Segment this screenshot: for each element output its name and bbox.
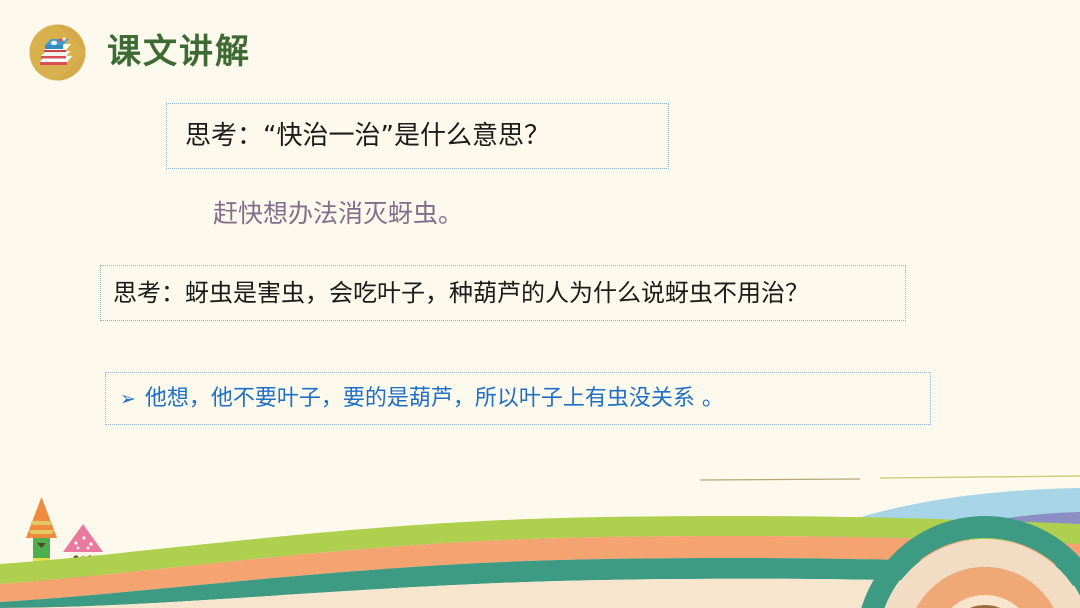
bottom-decoration: [0, 440, 1080, 608]
answer-2-text: 他想，他不要叶子，要的是葫芦，所以叶子上有虫没关系 。: [145, 384, 724, 414]
page-title: 课文讲解: [107, 28, 251, 76]
answer-2-line: ➢ 他想，他不要叶子，要的是葫芦，所以叶子上有虫没关系 。: [120, 384, 724, 414]
arrow-bullet-icon: ➢: [120, 384, 136, 414]
answer-box-2: ➢ 他想，他不要叶子，要的是葫芦，所以叶子上有虫没关系 。: [105, 372, 931, 425]
stacked-books-icon: [29, 24, 86, 81]
question-box-1: 思考：“快治一治”是什么意思？: [166, 103, 669, 169]
answer-1-text: 赶快想办法消灭蚜虫。: [213, 197, 463, 231]
horizon-line-2: [880, 476, 1080, 478]
slide-canvas: 课文讲解 思考：“快治一治”是什么意思？ 赶快想办法消灭蚜虫。 思考：蚜虫是害虫…: [0, 0, 1080, 608]
question-2-text: 思考：蚜虫是害虫，会吃叶子，种葫芦的人为什么说蚜虫不用治？: [113, 277, 809, 309]
question-1-text: 思考：“快治一治”是什么意思？: [185, 119, 550, 153]
slide-header: 课文讲解: [0, 0, 1080, 100]
question-box-2: 思考：蚜虫是害虫，会吃叶子，种葫芦的人为什么说蚜虫不用治？: [100, 265, 906, 321]
horizon-line-1: [700, 479, 860, 480]
